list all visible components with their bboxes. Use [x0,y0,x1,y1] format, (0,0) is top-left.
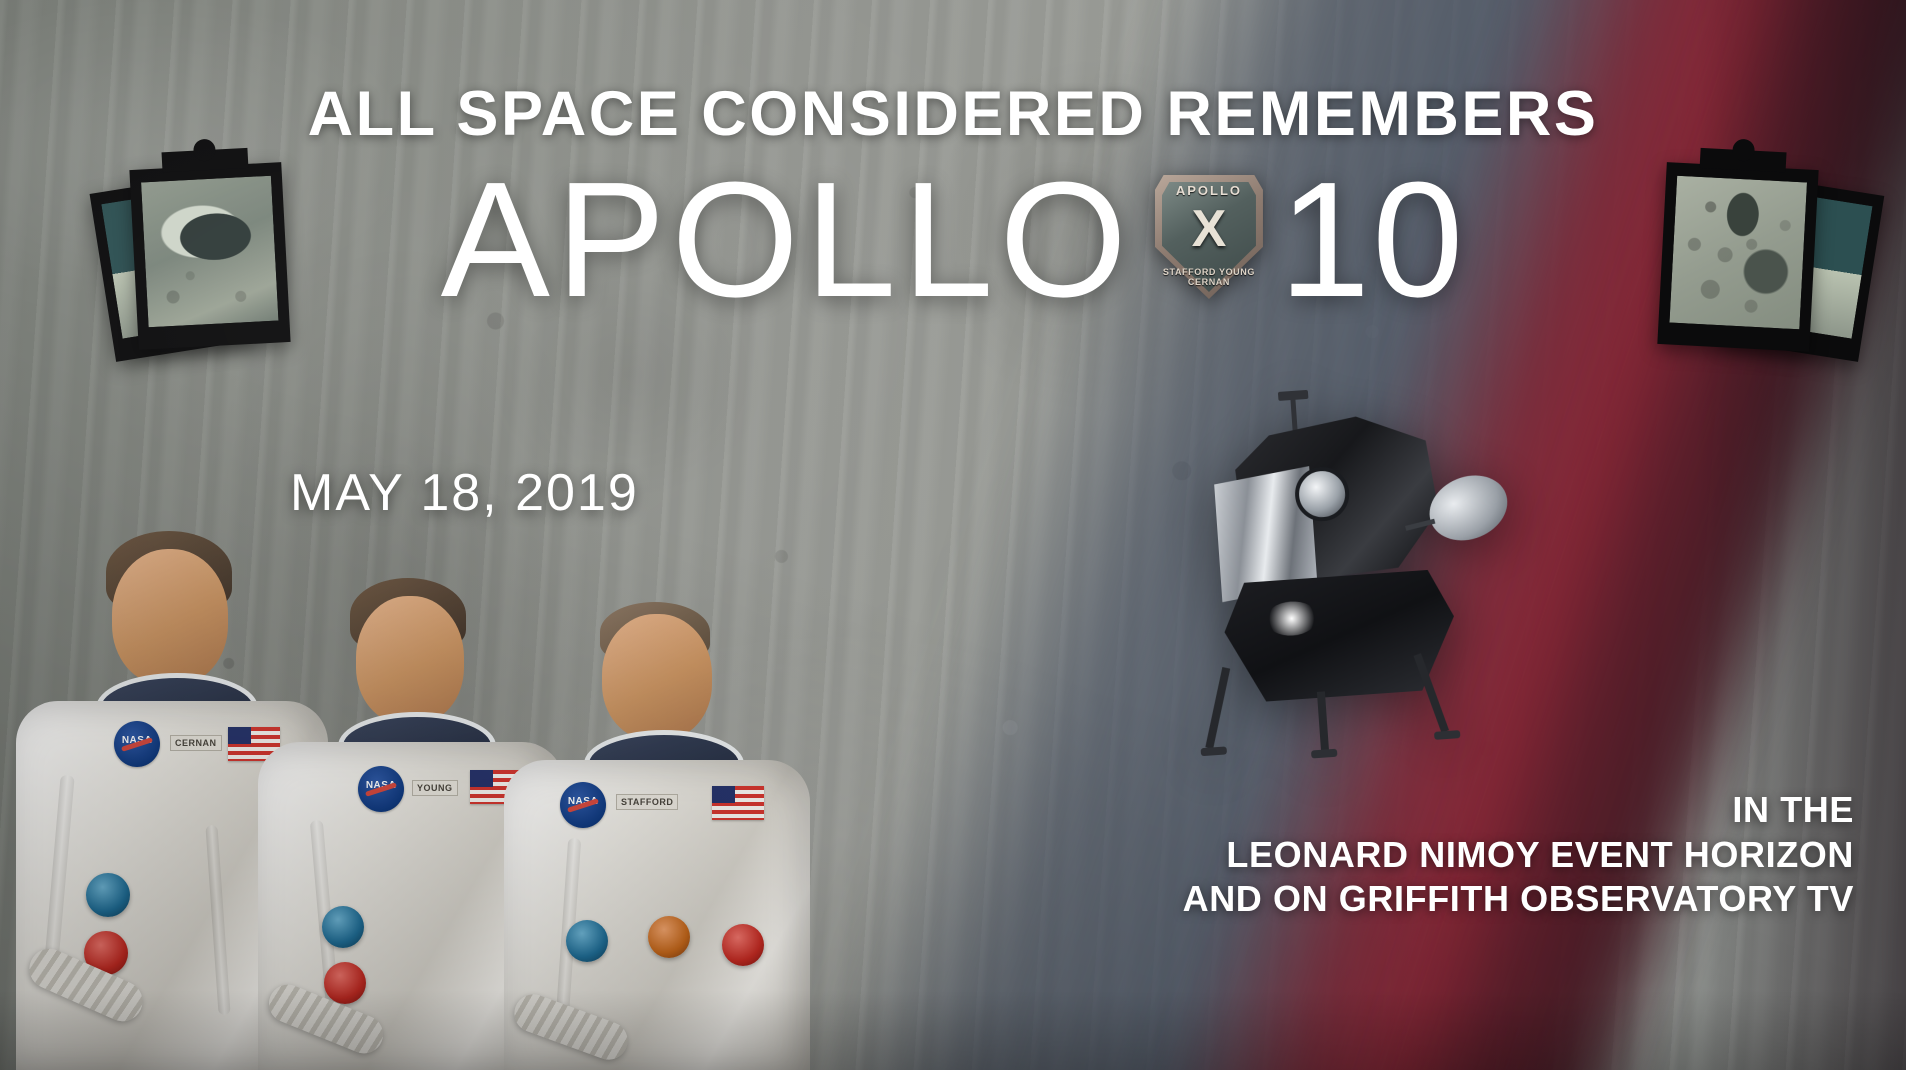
polaroid-front-left [129,162,290,350]
polaroid-tab-right [1700,148,1787,172]
stafford-suit-connector-red [722,924,764,966]
cernan-nasa-patch: NASA [114,721,160,767]
page-title-headline: ALL SPACE CONSIDERED REMEMBERS [0,78,1906,150]
stafford-nasa-label: NASA [560,796,606,807]
poster-canvas: NASA CERNAN NASA YOUNG [0,0,1906,1070]
cernan-nasa-label: NASA [114,735,160,746]
stafford-us-flag-patch [712,786,764,820]
lunar-module-footpad-center [1311,749,1337,759]
astronaut-stafford: NASA STAFFORD [496,590,816,1070]
lunar-module-footpad-right [1434,730,1460,740]
stafford-name-tag: STAFFORD [616,794,678,810]
young-head [356,596,464,724]
apollo-10-crew-photo: NASA CERNAN NASA YOUNG [0,510,990,1070]
venue-line-1: IN THE [1183,788,1854,833]
lunar-module-leg-center [1317,691,1329,751]
lunar-module-footpad-left [1201,746,1227,756]
young-suit-connector-blue [322,906,364,948]
stafford-nasa-patch: NASA [560,782,606,828]
cernan-head [112,549,228,685]
lunar-module-leg-left [1205,667,1230,749]
lunar-module-dish-antenna [1420,464,1517,551]
polaroid-stack-left [96,160,326,370]
stafford-suit-connector-amber [648,916,690,958]
cernan-name-tag: CERNAN [170,735,222,751]
polaroid-front-right [1657,162,1818,352]
venue-line-2: LEONARD NIMOY EVENT HORIZON [1183,833,1854,878]
event-date: MAY 18, 2019 [290,463,639,523]
polaroid-tab-left [162,148,249,172]
polaroid-photo-crater-right [1669,176,1807,330]
lunar-module-illustration [1172,392,1599,819]
venue-line-3: AND ON GRIFFITH OBSERVATORY TV [1183,877,1854,922]
young-nasa-patch: NASA [358,766,404,812]
stafford-suit-connector-blue [566,920,608,962]
stafford-head [602,614,712,740]
young-suit-connector-red [324,962,366,1004]
venue-block: IN THE LEONARD NIMOY EVENT HORIZON AND O… [1183,788,1854,922]
young-name-tag: YOUNG [412,780,458,796]
polaroid-photo-crater-left [141,176,278,328]
cernan-suit-connector-blue [86,873,130,917]
polaroid-stack-right [1650,160,1880,370]
young-nasa-label: NASA [358,780,404,791]
